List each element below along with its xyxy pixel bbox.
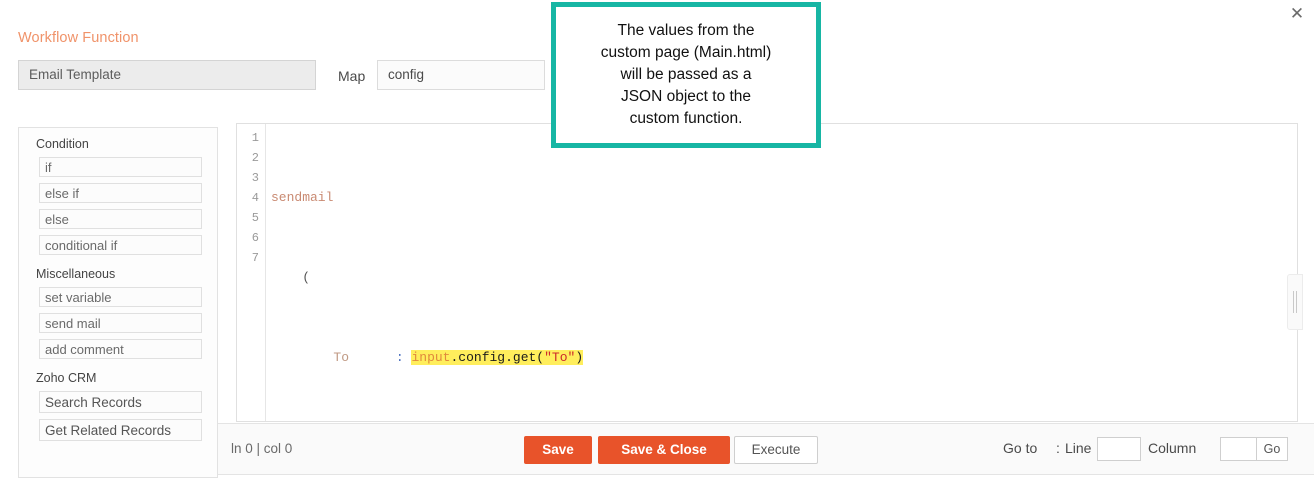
column-label: Column (1148, 440, 1196, 456)
save-and-close-button[interactable]: Save & Close (598, 436, 730, 464)
snippet-panel: Condition if else if else conditional if… (18, 127, 218, 478)
go-button[interactable]: Go (1256, 437, 1288, 461)
annotation-callout: The values from the custom page (Main.ht… (551, 2, 821, 148)
annotation-callout-text: The values from the custom page (Main.ht… (591, 20, 782, 130)
snippet-item-if[interactable]: if (39, 157, 202, 177)
grip-line (1296, 291, 1297, 313)
token-highlight-to: input.config.get("To") (411, 350, 583, 365)
map-input[interactable]: config (377, 60, 545, 90)
token-paren-close: ) (575, 350, 583, 365)
line-number: 1 (237, 128, 265, 148)
line-input[interactable] (1097, 437, 1141, 461)
line-number: 3 (237, 168, 265, 188)
editor-toolbar: ln 0 | col 0 Save Save & Close Execute G… (218, 423, 1314, 475)
line-number: 4 (237, 188, 265, 208)
code-line-2: ( (271, 268, 1297, 288)
line-number: 5 (237, 208, 265, 228)
code-line-3: To : input.config.get("To") (271, 348, 1297, 368)
close-icon[interactable]: ✕ (1286, 3, 1308, 25)
page-title: Workflow Function (18, 30, 139, 46)
goto-colon: : (1056, 440, 1060, 456)
caret-position-status: ln 0 | col 0 (231, 441, 292, 456)
token-open-paren: ( (302, 270, 310, 285)
token-config-get: .config.get( (450, 350, 544, 365)
line-label: Line (1065, 440, 1091, 456)
snippet-item-set-variable[interactable]: set variable (39, 287, 202, 307)
snippet-item-send-mail[interactable]: send mail (39, 313, 202, 333)
save-button[interactable]: Save (524, 436, 592, 464)
snippet-group-title-zoho-crm: Zoho CRM (36, 371, 217, 385)
function-name-input[interactable]: Email Template (18, 60, 316, 90)
resize-grip-handle[interactable] (1287, 274, 1303, 330)
snippet-item-get-related-records[interactable]: Get Related Records (39, 419, 202, 441)
map-label: Map (338, 68, 365, 84)
line-number: 6 (237, 228, 265, 248)
snippet-item-search-records[interactable]: Search Records (39, 391, 202, 413)
line-number: 2 (237, 148, 265, 168)
token-input: input (411, 350, 450, 365)
snippet-item-add-comment[interactable]: add comment (39, 339, 202, 359)
line-number-gutter: 1 2 3 4 5 6 7 (237, 124, 266, 421)
code-editor[interactable]: 1 2 3 4 5 6 7 sendmail ( To : input.conf… (236, 123, 1298, 422)
snippet-item-else[interactable]: else (39, 209, 202, 229)
line-number: 7 (237, 248, 265, 268)
code-line-1: sendmail (271, 188, 1297, 208)
token-colon: : (396, 350, 404, 365)
token-sendmail: sendmail (271, 190, 333, 205)
snippet-group-title-condition: Condition (36, 137, 217, 151)
execute-button[interactable]: Execute (734, 436, 818, 464)
snippet-item-conditional-if[interactable]: conditional if (39, 235, 202, 255)
token-string-to: "To" (544, 350, 575, 365)
token-key-to: To (333, 350, 349, 365)
snippet-item-else-if[interactable]: else if (39, 183, 202, 203)
code-content[interactable]: sendmail ( To : input.config.get("To") F… (266, 128, 1297, 421)
snippet-group-title-miscellaneous: Miscellaneous (36, 267, 217, 281)
goto-label: Go to (1003, 440, 1037, 456)
grip-line (1293, 291, 1294, 313)
